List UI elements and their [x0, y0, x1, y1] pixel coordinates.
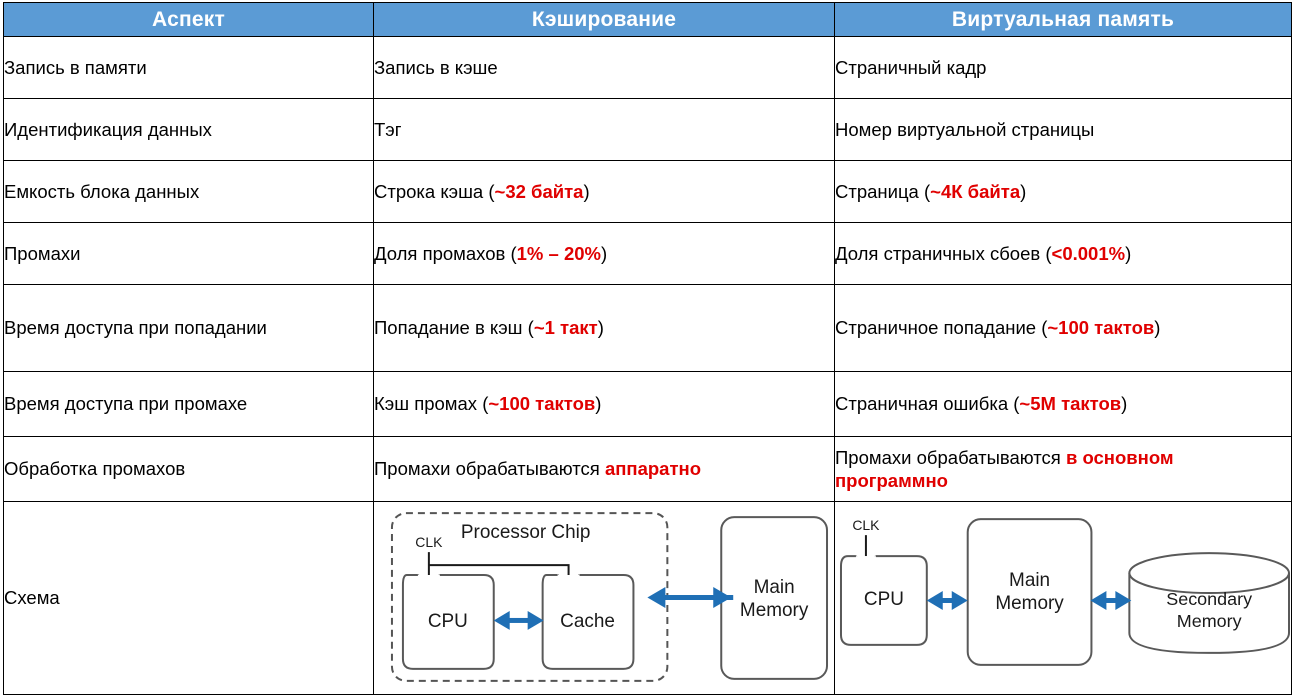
clk-label: CLK — [852, 517, 880, 533]
text-post: ) — [598, 317, 604, 338]
cell-aspect: Запись в памяти — [4, 37, 374, 99]
cell-aspect: Схема — [4, 502, 374, 695]
text-pre: Попадание в кэш ( — [374, 317, 534, 338]
cache-vs-virtual-memory-table: Аспект Кэширование Виртуальная память За… — [3, 2, 1292, 695]
cpu-label: CPU — [864, 589, 904, 610]
cell-virtual: Страничное попадание (~100 тактов) — [835, 285, 1292, 372]
highlight-value: ~5М тактов — [1019, 393, 1121, 414]
text-pre: Страничное попадание ( — [835, 317, 1047, 338]
cell-aspect: Промахи — [4, 223, 374, 285]
main-memory-label-line2: Memory — [995, 593, 1064, 614]
text-post: ) — [1154, 317, 1160, 338]
cell-virtual: Доля страничных сбоев (<0.001%) — [835, 223, 1292, 285]
column-header-aspect: Аспект — [4, 3, 374, 37]
cell-virtual: Промахи обрабатываются в основном програ… — [835, 437, 1292, 502]
highlight-value: ~1 такт — [534, 317, 598, 338]
highlight-value: 1% – 20% — [517, 243, 601, 264]
text-post: ) — [583, 181, 589, 202]
highlight-value: <0.001% — [1052, 243, 1126, 264]
table-row: Время доступа при промахе Кэш промах (~1… — [4, 372, 1292, 437]
cell-virtual: Номер виртуальной страницы — [835, 99, 1292, 161]
cell-virtual: Страничная ошибка (~5М тактов) — [835, 372, 1292, 437]
clk-distribution-line — [429, 552, 569, 575]
cell-aspect: Время доступа при промахе — [4, 372, 374, 437]
main-memory-label-line1: Main — [1009, 570, 1050, 591]
table-row-diagram: Схема Processor Chip CLK — [4, 502, 1292, 695]
table-header: Аспект Кэширование Виртуальная память — [4, 3, 1292, 37]
column-header-caching: Кэширование — [374, 3, 835, 37]
cache-architecture-diagram: Processor Chip CLK CPU — [374, 502, 834, 694]
table-row: Емкость блока данных Строка кэша (~32 ба… — [4, 161, 1292, 223]
main-secondary-memory-arrow — [1090, 591, 1131, 610]
cell-caching: Попадание в кэш (~1 такт) — [374, 285, 835, 372]
table-row: Время доступа при попадании Попадание в … — [4, 285, 1292, 372]
cell-caching: Запись в кэше — [374, 37, 835, 99]
text-pre: Кэш промах ( — [374, 393, 488, 414]
text-post: ) — [1020, 181, 1026, 202]
highlight-value: ~32 байта — [495, 181, 584, 202]
cell-caching: Тэг — [374, 99, 835, 161]
cpu-main-memory-arrow — [927, 591, 968, 610]
text-pre: Доля страничных сбоев ( — [835, 243, 1052, 264]
cell-virtual: Страница (~4К байта) — [835, 161, 1292, 223]
cpu-cache-arrow — [494, 611, 544, 630]
cache-diagram-svg: Processor Chip CLK CPU — [374, 502, 834, 694]
cell-aspect: Время доступа при попадании — [4, 285, 374, 372]
text-pre: Номер виртуальной страницы — [835, 119, 1094, 140]
column-header-virtual-memory: Виртуальная память — [835, 3, 1292, 37]
cell-virtual: Страничный кадр — [835, 37, 1292, 99]
cell-virtual-diagram: CLK CPU Main Memory — [835, 502, 1292, 695]
text-pre: Промахи обрабатываются — [374, 458, 605, 479]
cache-label: Cache — [560, 611, 615, 632]
table-row: Промахи Доля промахов (1% – 20%) Доля ст… — [4, 223, 1292, 285]
text-pre: Строка кэша ( — [374, 181, 495, 202]
cpu-label: CPU — [428, 611, 468, 632]
processor-chip-label: Processor Chip — [461, 522, 590, 543]
virtual-memory-architecture-diagram: CLK CPU Main Memory — [835, 502, 1291, 694]
text-pre: Страница ( — [835, 181, 930, 202]
text-pre: Тэг — [374, 119, 402, 140]
cell-caching-diagram: Processor Chip CLK CPU — [374, 502, 835, 695]
vm-diagram-svg: CLK CPU Main Memory — [835, 502, 1291, 694]
text-pre: Запись в кэше — [374, 57, 498, 78]
secondary-memory-label-line1: Secondary — [1166, 589, 1252, 609]
header-row: Аспект Кэширование Виртуальная память — [4, 3, 1292, 37]
cell-caching: Промахи обрабатываются аппаратно — [374, 437, 835, 502]
table-row: Обработка промахов Промахи обрабатываютс… — [4, 437, 1292, 502]
text-pre: Страничный кадр — [835, 57, 986, 78]
text-post: ) — [1121, 393, 1127, 414]
table-row: Идентификация данных Тэг Номер виртуальн… — [4, 99, 1292, 161]
cell-caching: Доля промахов (1% – 20%) — [374, 223, 835, 285]
cell-aspect: Идентификация данных — [4, 99, 374, 161]
main-memory-label-line1: Main — [754, 577, 795, 598]
cell-caching: Строка кэша (~32 байта) — [374, 161, 835, 223]
highlight-value: аппаратно — [605, 458, 701, 479]
table-body: Запись в памяти Запись в кэше Страничный… — [4, 37, 1292, 695]
highlight-value: ~4К байта — [930, 181, 1020, 202]
table-row: Запись в памяти Запись в кэше Страничный… — [4, 37, 1292, 99]
text-pre: Доля промахов ( — [374, 243, 517, 264]
comparison-table-sheet: Аспект Кэширование Виртуальная память За… — [0, 0, 1299, 694]
cell-aspect: Обработка промахов — [4, 437, 374, 502]
cell-aspect: Емкость блока данных — [4, 161, 374, 223]
text-post: ) — [601, 243, 607, 264]
text-post: ) — [595, 393, 601, 414]
main-memory-label-line2: Memory — [740, 600, 809, 621]
highlight-value: ~100 тактов — [1047, 317, 1154, 338]
text-pre: Промахи обрабатываются — [835, 447, 1066, 468]
cell-caching: Кэш промах (~100 тактов) — [374, 372, 835, 437]
text-pre: Страничная ошибка ( — [835, 393, 1019, 414]
clk-label: CLK — [415, 534, 443, 550]
text-post: ) — [1125, 243, 1131, 264]
highlight-value: ~100 тактов — [488, 393, 595, 414]
secondary-memory-label-line2: Memory — [1177, 611, 1242, 631]
